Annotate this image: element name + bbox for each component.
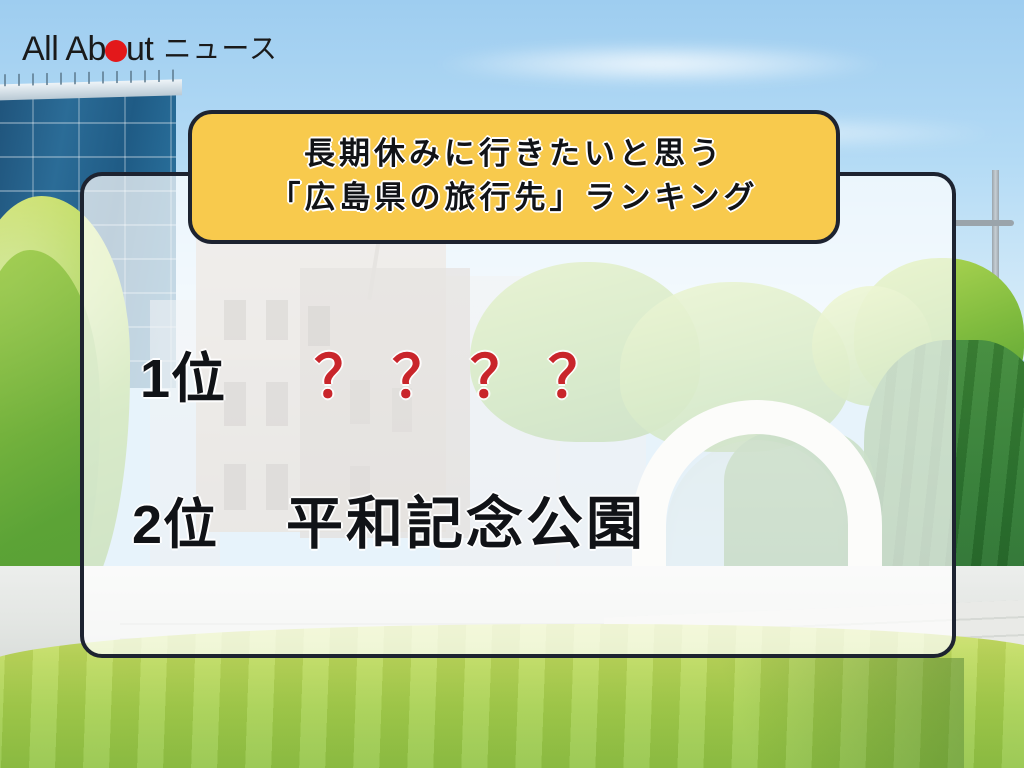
title-line-1: 長期休みに行きたいと思う bbox=[218, 132, 810, 176]
slide-canvas: All Abut ニュース 1位 ？？？？ 2位 平和記念公園 長期休みに行きた… bbox=[0, 0, 1024, 768]
logo-brand-part2: ut bbox=[126, 30, 153, 68]
logo-brand: All Abut bbox=[22, 32, 153, 66]
title-banner: 長期休みに行きたいと思う 「広島県の旅行先」ランキング bbox=[188, 110, 840, 244]
content-card bbox=[80, 172, 956, 658]
cloud-wisp bbox=[430, 42, 890, 86]
lawn-shadow bbox=[604, 658, 964, 768]
title-line-2: 「広島県の旅行先」ランキング bbox=[218, 176, 810, 220]
light-pole-arm bbox=[952, 220, 1014, 226]
red-circle-icon bbox=[105, 40, 127, 62]
logo-brand-part1: All Ab bbox=[22, 30, 106, 68]
site-logo[interactable]: All Abut ニュース bbox=[22, 32, 278, 66]
logo-section-label: ニュース bbox=[163, 35, 278, 63]
